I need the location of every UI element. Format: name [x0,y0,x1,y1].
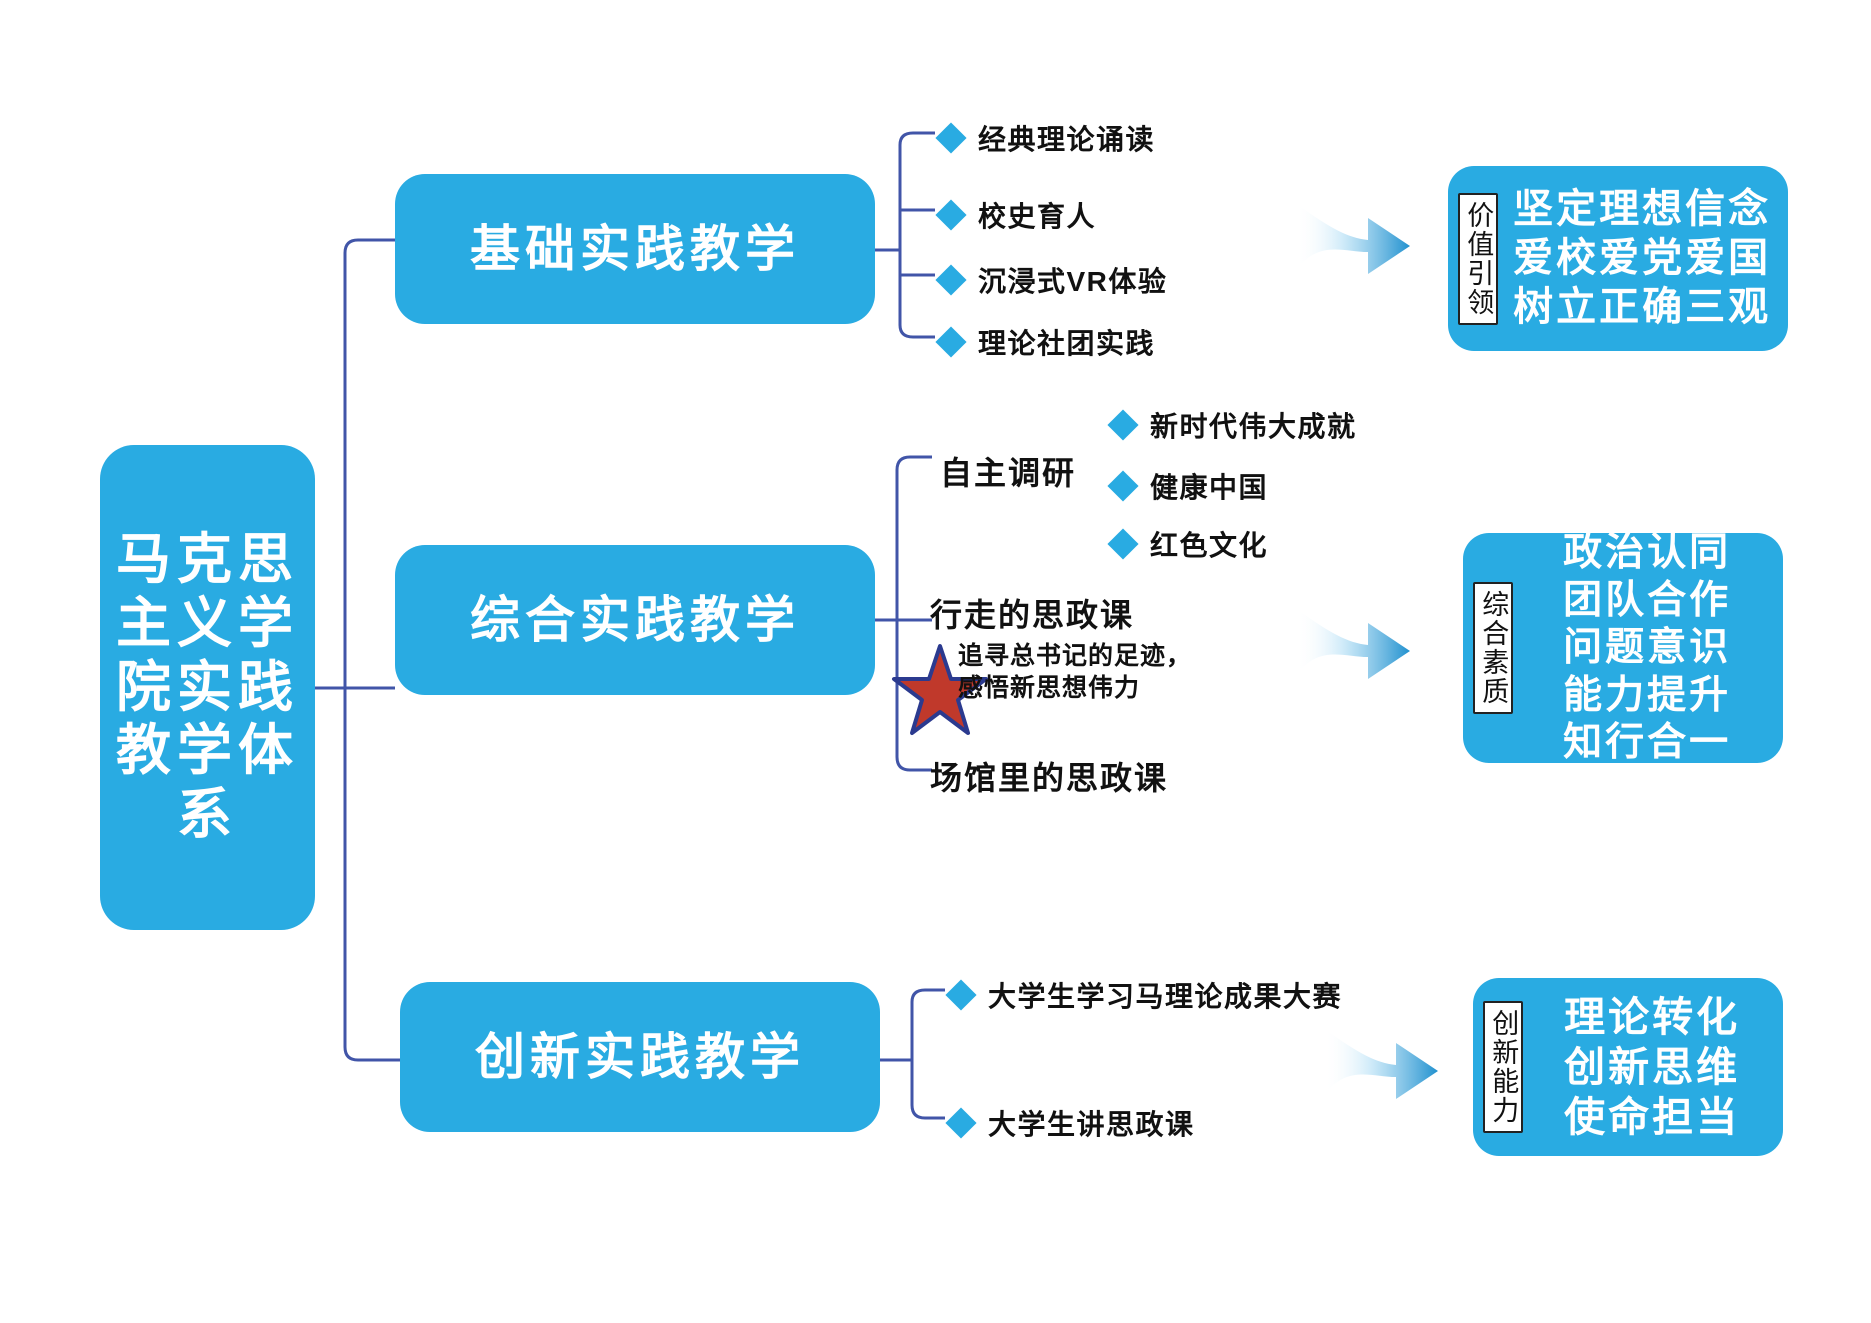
outcome-innovation-line-1: 理论转化 [1564,994,1740,1040]
outcome-box-quality[interactable]: 综合素质 政治认同 团队合作 问题意识 能力提升 知行合一 [1463,533,1783,763]
outcome-innovation-line-3: 使命担当 [1564,1094,1740,1140]
outcome-quality-line-5: 知行合一 [1563,721,1731,764]
leaf-research-1-label: 新时代伟大成就 [1150,405,1357,445]
mindmap-canvas: 马克思主义学院实践教学体系 基础实践教学 综合实践教学 创新实践教学 经典理论诵… [0,0,1871,1323]
branch-node-comprehensive-label: 综合实践教学 [470,590,800,651]
group-title-venue-class[interactable]: 场馆里的思政课 [930,753,1168,799]
outcome-tag-innovation: 创新能力 [1483,1001,1523,1133]
group-title-walking-class[interactable]: 行走的思政课 [930,590,1134,636]
outcome-tag-value: 价值引领 [1458,193,1498,325]
leaf-basic-1-label: 经典理论诵读 [978,118,1155,158]
star-icon-spacer [890,643,948,701]
outcome-value-line-1: 坚定理想信念 [1513,187,1771,231]
leaf-basic-2[interactable]: 校史育人 [940,195,1096,235]
branch-node-innovation-label: 创新实践教学 [475,1027,805,1088]
outcome-quality-line-3: 问题意识 [1563,626,1731,669]
leaf-innovation-2-label: 大学生讲思政课 [988,1103,1195,1143]
diamond-icon [1107,409,1138,440]
group-title-research[interactable]: 自主调研 [940,448,1076,494]
diamond-icon [1107,470,1138,501]
diamond-icon [935,199,966,230]
root-node[interactable]: 马克思主义学院实践教学体系 [100,445,315,930]
leaf-basic-4[interactable]: 理论社团实践 [940,322,1155,362]
leaf-basic-3[interactable]: 沉浸式VR体验 [940,260,1167,300]
diamond-icon [945,1107,976,1138]
outcome-box-value[interactable]: 价值引领 坚定理想信念 爱校爱党爱国 树立正确三观 [1448,166,1788,351]
leaf-innovation-1[interactable]: 大学生学习马理论成果大赛 [950,975,1342,1015]
outcome-tag-quality: 综合素质 [1473,582,1513,714]
diamond-icon [945,979,976,1010]
leaf-basic-3-label: 沉浸式VR体验 [978,260,1167,300]
outcome-value-line-2: 爱校爱党爱国 [1513,236,1771,280]
branch-node-basic[interactable]: 基础实践教学 [395,174,875,324]
leaf-innovation-1-label: 大学生学习马理论成果大赛 [988,975,1342,1015]
diamond-icon [935,122,966,153]
diamond-icon [935,264,966,295]
root-node-label: 马克思主义学院实践教学体系 [104,528,311,847]
leaf-research-3-label: 红色文化 [1150,524,1268,564]
branch-node-comprehensive[interactable]: 综合实践教学 [395,545,875,695]
note-line-2: 感悟新思想伟力 [958,674,1140,702]
outcome-value-line-3: 树立正确三观 [1513,285,1771,329]
outcome-innovation-line-2: 创新思维 [1564,1044,1740,1090]
leaf-basic-4-label: 理论社团实践 [978,322,1155,362]
leaf-basic-1[interactable]: 经典理论诵读 [940,118,1155,158]
diamond-icon [935,326,966,357]
leaf-research-1[interactable]: 新时代伟大成就 [1112,405,1357,445]
branch-node-innovation[interactable]: 创新实践教学 [400,982,880,1132]
leaf-research-3[interactable]: 红色文化 [1112,524,1268,564]
leaf-basic-2-label: 校史育人 [978,195,1096,235]
leaf-research-2-label: 健康中国 [1150,466,1268,506]
diamond-icon [1107,528,1138,559]
outcome-quality-line-2: 团队合作 [1563,579,1731,622]
note-line-1: 追寻总书记的足迹， [958,642,1192,670]
leaf-innovation-2[interactable]: 大学生讲思政课 [950,1103,1195,1143]
outcome-quality-line-4: 能力提升 [1563,674,1731,717]
leaf-research-2[interactable]: 健康中国 [1112,466,1268,506]
outcome-quality-line-1: 政治认同 [1563,531,1731,574]
branch-node-basic-label: 基础实践教学 [470,219,800,280]
walking-class-note: 追寻总书记的足迹， 感悟新思想伟力 [890,640,1350,704]
outcome-box-innovation[interactable]: 创新能力 理论转化 创新思维 使命担当 [1473,978,1783,1156]
